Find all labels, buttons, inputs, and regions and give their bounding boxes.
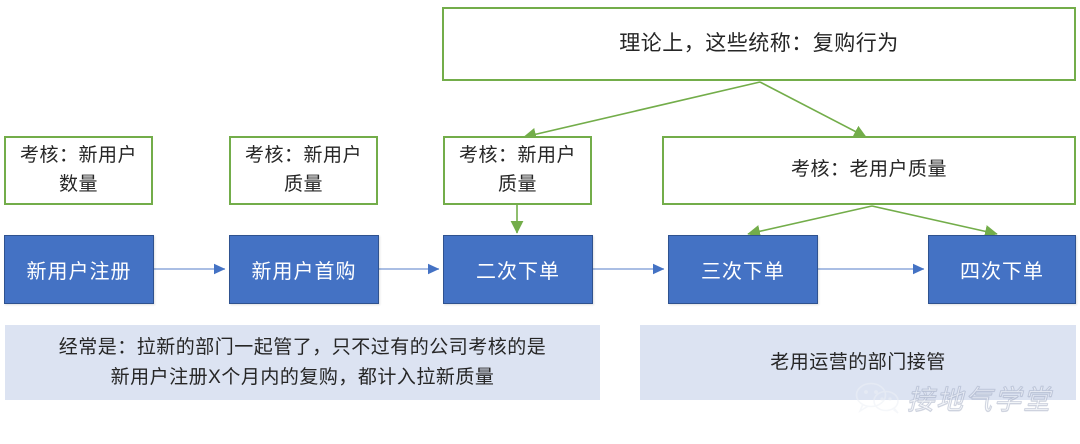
kpi-box-label-line1: 考核：新用户 — [20, 142, 137, 171]
stage-box-third-order: 三次下单 — [668, 235, 818, 304]
stage-box-label: 四次下单 — [960, 255, 1044, 284]
stage-box-label: 三次下单 — [701, 255, 785, 284]
kpi-box-old-user-quality: 考核：老用户质量 — [662, 136, 1076, 205]
stage-box-label: 新用户注册 — [27, 255, 132, 284]
note-line1: 经常是：拉新的部门一起管了，只不过有的公司考核的是 — [59, 333, 547, 362]
kpi-box-new-user-quality-2: 考核：新用户 质量 — [443, 136, 592, 205]
kpi-box-new-user-count: 考核：新用户 数量 — [4, 136, 153, 205]
watermark: 接地气学堂 — [855, 378, 1052, 417]
watermark-label: 接地气学堂 — [907, 378, 1052, 417]
wechat-icon — [855, 382, 901, 414]
stage-box-label: 新用户首购 — [252, 255, 357, 284]
note-line1: 老用运营的部门接管 — [770, 348, 946, 377]
kpi-box-label: 考核：老用户质量 — [791, 156, 947, 185]
stage-box-second-order: 二次下单 — [443, 235, 593, 304]
stage-box-label: 二次下单 — [476, 255, 560, 284]
stage-box-new-user-register: 新用户注册 — [4, 235, 154, 304]
kpi-box-new-user-quality-1: 考核：新用户 质量 — [229, 136, 378, 205]
stage-box-new-user-first-purchase: 新用户首购 — [229, 235, 379, 304]
summary-box-label: 理论上，这些统称：复购行为 — [619, 28, 899, 60]
diagram-canvas: 理论上，这些统称：复购行为 考核：新用户 数量 考核：新用户 质量 考核：新用户… — [0, 0, 1080, 444]
kpi-box-label-line2: 质量 — [459, 171, 576, 200]
kpi-box-label-line2: 数量 — [20, 171, 137, 200]
kpi-box-label-line1: 考核：新用户 — [459, 142, 576, 171]
stage-box-fourth-order: 四次下单 — [928, 235, 1076, 304]
note-box-acquisition-team: 经常是：拉新的部门一起管了，只不过有的公司考核的是 新用户注册X个月内的复购，都… — [5, 325, 600, 400]
note-line2: 新用户注册X个月内的复购，都计入拉新质量 — [59, 363, 547, 392]
summary-box: 理论上，这些统称：复购行为 — [442, 7, 1076, 81]
kpi-box-label-line1: 考核：新用户 — [245, 142, 362, 171]
kpi-box-label-line2: 质量 — [245, 171, 362, 200]
